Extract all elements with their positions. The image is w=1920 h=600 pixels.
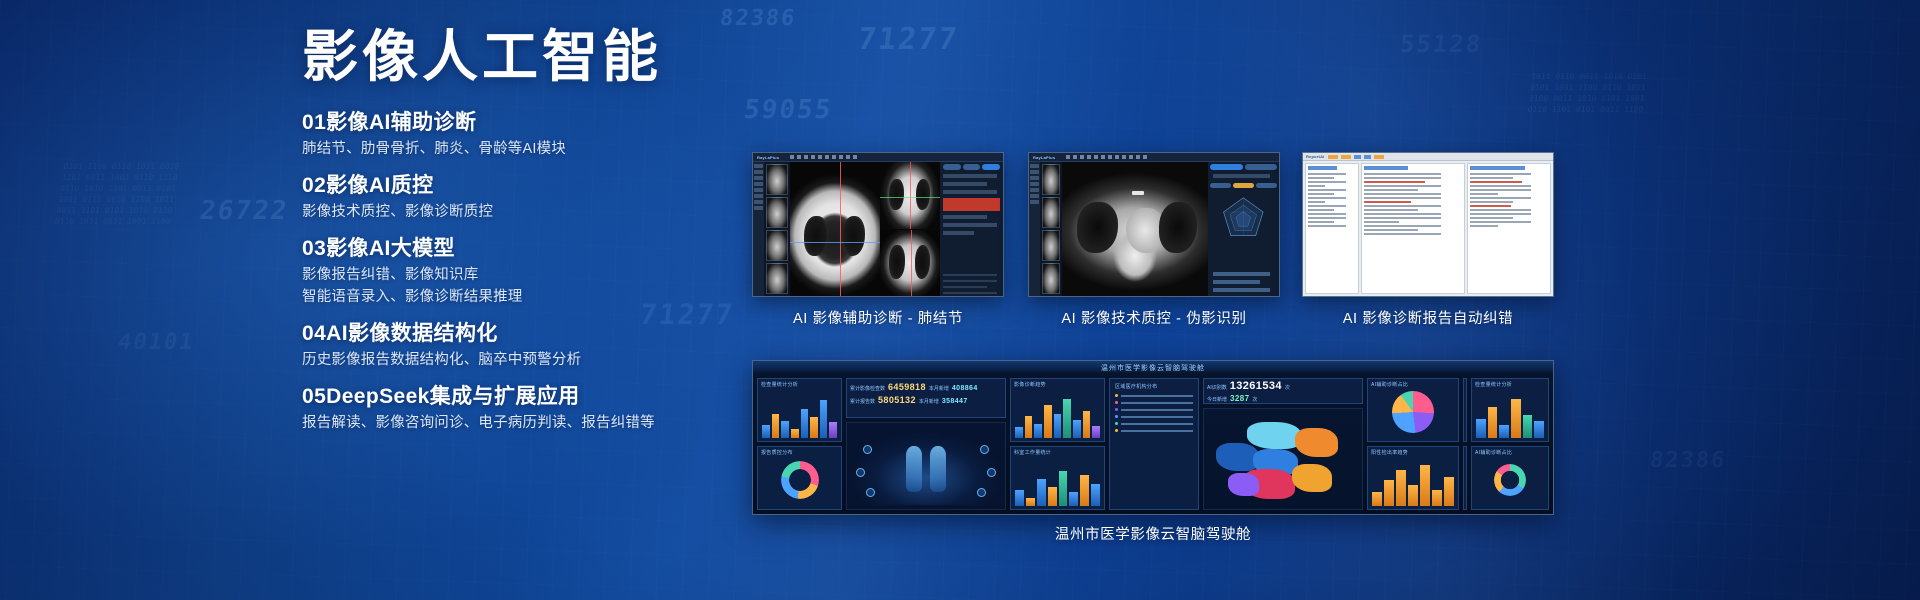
bar [1037,479,1046,506]
rail-icon-1[interactable] [1030,164,1039,168]
stat-value: 408864 [952,385,978,392]
report-line [1364,205,1441,207]
rail-icon-8[interactable] [754,206,763,210]
rail-icon-5[interactable] [754,188,763,192]
coronal-lung-left [889,179,903,210]
toolbar-icons[interactable] [1066,155,1147,159]
legend-dot-icon [1115,415,1118,418]
stat-row-1: 累计影像检查数 6459818 本月新增 408864 [850,382,1002,392]
rail-icon-6[interactable] [1030,194,1039,198]
tool-icon-9[interactable] [1122,155,1126,159]
screenshot-ct-artifact[interactable]: RayLaPlus [1028,152,1280,297]
ct-secondary-viewports[interactable] [880,162,940,296]
report-line [1364,197,1441,199]
panel-title: 影像诊断趋势 [1014,381,1046,388]
tab-nodules[interactable] [963,164,981,170]
tool-icon-12[interactable] [1143,155,1147,159]
panel-title: 报告质控分布 [761,449,793,456]
panel-title: 检查量统计分析 [761,381,798,388]
ct-nodule-app: RayLaPlus [753,153,1003,296]
worklist-row[interactable] [1308,205,1346,207]
report-line [1364,225,1441,227]
rail-icon-7[interactable] [754,200,763,204]
qc-result-row[interactable] [1213,288,1270,292]
series-thumbnail[interactable] [1042,164,1060,195]
feature-title-03: 03影像AI大模型 [302,235,722,263]
worklist-row[interactable] [1308,209,1334,211]
dashboard-column-1: 检查量统计分析 报告质控分布 [757,378,842,510]
tool-icon-3[interactable] [804,155,808,159]
bar [1384,480,1394,506]
stat-value: 13261534 [1230,380,1282,392]
bar [1063,399,1071,438]
suggestion-row[interactable] [1470,201,1513,203]
bar-chart [1476,391,1544,438]
panel-region-map[interactable] [1203,408,1363,510]
screenshot-report-fix[interactable]: ReportAI [1302,152,1554,297]
ai-findings-panel[interactable] [940,162,1003,296]
panel-positive-rate-trend[interactable]: 阳性检出率趋势 [1367,446,1459,510]
bar [829,422,837,438]
feature-desc-02-line-1: 影像技术质控、影像诊断质控 [302,202,722,224]
qc-tab-row[interactable] [1210,164,1277,170]
report-text-line [943,280,997,282]
rail-icon-4[interactable] [1030,182,1039,186]
report-text-line [943,286,987,288]
tool-icon-9[interactable] [846,155,850,159]
feature-list: 影像人工智能 01影像AI辅助诊断 肺结节、肋骨骨折、肺炎、骨龄等AI模块 02… [302,26,722,446]
feature-desc-01: 肺结节、肋骨骨折、肺炎、骨龄等AI模块 [302,139,722,161]
feature-desc-03: 影像报告纠错、影像知识库 智能语音录入、影像诊断结果推理 [302,265,722,309]
crosshair-vertical [840,162,841,296]
toolbar-button-export[interactable] [1374,155,1384,159]
bar [1396,470,1406,506]
panel-header: 检查量统计分析 [758,379,841,390]
qc-filter-pass[interactable] [1233,183,1254,188]
tool-icon-1[interactable] [1066,155,1070,159]
panel-title: 检查量统计分析 [1475,381,1512,388]
bar [1408,485,1418,506]
bar [1015,427,1023,438]
worklist-row[interactable] [1308,221,1334,223]
ai-stat-row-today: 今日新增 3287 次 [1207,394,1359,403]
tool-icon-4[interactable] [811,155,815,159]
suggestion-row-error[interactable] [1470,205,1510,207]
tool-icon-3[interactable] [1080,155,1084,159]
tool-icon-7[interactable] [1108,155,1112,159]
pie-chart [1392,391,1434,433]
ct-artifact-app: RayLaPlus [1029,153,1279,296]
bar [801,409,809,438]
left-tool-rail[interactable] [753,162,764,296]
feature-title-02: 02影像AI质控 [302,172,722,200]
bar [1044,405,1052,438]
feature-title-01: 01影像AI辅助诊断 [302,109,722,137]
panel-exam-volume[interactable]: 检查量统计分析 [757,378,842,442]
toolbar-icons[interactable] [790,155,857,159]
series-thumbnail-list[interactable] [764,162,790,296]
map-region-north[interactable] [1247,422,1302,448]
bar [1534,421,1544,438]
worklist-row[interactable] [1308,201,1325,203]
legend-dot-icon [1115,429,1118,432]
bar [1476,419,1486,438]
stat-row-2: 累计报告数 5805132 本月新增 358447 [850,395,1002,405]
dashboard-title: 温州市医学影像云智脑驾驶舱 [753,361,1553,374]
toolbar-button-open[interactable] [1328,155,1338,159]
bar [1372,492,1382,506]
crosshair-horizontal [880,197,940,198]
panel-ai-ratio[interactable]: AI辅助诊断占比 [1367,378,1459,442]
caption-ct-artifact: AI 影像技术质控 - 伪影识别 [1028,307,1280,328]
stat-value: 5805132 [878,395,916,405]
panel-title: 阳性检出率趋势 [1371,449,1408,456]
ct-artifact-toolbar[interactable]: RayLaPlus [1029,153,1279,162]
series-thumbnail[interactable] [766,197,788,228]
lung-right-region [1159,202,1197,253]
list-item[interactable] [1115,415,1193,418]
tab-report[interactable] [982,164,1000,170]
donut-chart [1494,464,1526,496]
suggestion-row-error[interactable] [1470,181,1521,183]
rail-icon-5[interactable] [1030,188,1039,192]
ct-axial-viewport[interactable] [790,162,880,296]
crosshair-vertical [911,230,912,297]
worklist-row[interactable] [1308,185,1325,187]
finding-row[interactable] [943,182,987,186]
dashboard-column-2: 累计影像检查数 6459818 本月新增 408864 累计报告数 580513… [846,378,1006,510]
ct-artifact-viewport[interactable] [1062,162,1208,296]
tool-icon-10[interactable] [1129,155,1133,159]
app-logo-icon: ReportAI [1306,154,1325,159]
region-map[interactable] [1207,419,1359,506]
qc-radar-chart [1212,195,1275,241]
qc-filter-row[interactable] [1210,183,1277,188]
finding-row-alert[interactable] [943,198,1000,211]
worklist-row[interactable] [1308,197,1346,199]
bar-chart [1372,459,1454,506]
bar [1444,477,1454,506]
caption-dashboard: 温州市医学影像云智脑驾驶舱 [752,523,1554,544]
bar [1034,424,1042,438]
suggestion-row[interactable] [1470,193,1497,195]
tool-icon-7[interactable] [832,155,836,159]
report-line [1364,217,1441,219]
map-region-coastal[interactable] [1228,473,1258,496]
panel-department-workload[interactable]: 科室工作量统计 [1010,446,1105,510]
series-thumbnail[interactable] [766,263,788,294]
bar [1420,465,1430,506]
list-item[interactable] [1115,394,1193,397]
map-region-southeast[interactable] [1292,464,1332,492]
suggestion-row[interactable] [1470,217,1513,219]
crosshair-vertical [910,162,911,229]
report-line-error[interactable] [1364,201,1411,203]
panel-cumulative-stats[interactable]: 累计影像检查数 6459818 本月新增 408864 累计报告数 580513… [846,378,1006,418]
report-line [1364,173,1441,175]
report-line [1364,185,1441,187]
series-thumbnail-list[interactable] [1040,162,1062,296]
crosshair-horizontal [790,242,880,243]
background-number-1: 71277 [856,22,961,57]
background-code-texture-right: 1011 0110 0011 1010 0101 0101 1001 1100 … [1527,60,1648,115]
bar [1026,498,1035,506]
tool-icon-10[interactable] [853,155,857,159]
report-text-line [943,274,997,276]
organ-icon-bone[interactable] [987,468,996,477]
stat-label: 累计报告数 [850,398,875,405]
finding-row[interactable] [943,190,997,194]
tool-icon-5[interactable] [1094,155,1098,159]
report-line [1364,229,1418,231]
tool-icon-2[interactable] [1073,155,1077,159]
stat-value: 3287 [1230,394,1249,403]
panel-ai-count[interactable]: AI识别数 13261534 次 今日新增 3287 次 [1203,378,1363,404]
feature-item-01: 01影像AI辅助诊断 肺结节、肋骨骨折、肺炎、骨龄等AI模块 [302,109,722,161]
worklist-row[interactable] [1308,217,1346,219]
series-thumbnail[interactable] [1042,230,1060,261]
tool-icon-1[interactable] [790,155,794,159]
tool-icon-2[interactable] [797,155,801,159]
series-thumbnail[interactable] [766,164,788,195]
panel-human-body-visual[interactable] [846,422,1006,510]
map-region-east[interactable] [1295,428,1338,458]
rail-icon-7[interactable] [1030,200,1039,204]
rail-icon-2[interactable] [1030,170,1039,174]
tool-icon-6[interactable] [1101,155,1105,159]
background-number-5: 55128 [1399,30,1484,58]
report-fix-app: ReportAI [1303,153,1553,296]
feature-desc-03-line-1: 影像报告纠错、影像知识库 [302,265,722,287]
tool-icon-4[interactable] [1087,155,1091,159]
correction-suggestion-panel[interactable] [1467,163,1551,294]
list-item[interactable] [1115,422,1193,425]
report-line [1364,193,1441,195]
feature-item-02: 02影像AI质控 影像技术质控、影像诊断质控 [302,172,722,224]
suggestion-row[interactable] [1470,213,1531,215]
feature-desc-01-line-1: 肺结节、肋骨骨折、肺炎、骨龄等AI模块 [302,139,722,161]
rail-icon-2[interactable] [754,170,763,174]
panel-title: 科室工作量统计 [1014,449,1051,456]
suggestion-row[interactable] [1470,173,1531,175]
ct-sagittal-viewport[interactable] [880,230,940,297]
rail-icon-1[interactable] [754,164,763,168]
bar [762,425,770,438]
report-line [1364,233,1441,235]
feature-desc-05: 报告解读、影像咨询问诊、电子病历判读、报告纠错等 [302,413,722,435]
legend-dot-icon [1115,394,1118,397]
legend-dot-icon [1115,408,1118,411]
background-number-2: 59055 [742,95,834,125]
suggestion-row[interactable] [1470,189,1531,191]
suggestion-row[interactable] [1470,185,1531,187]
report-editor-panel[interactable] [1361,163,1465,294]
worklist-row[interactable] [1308,189,1346,191]
panel-header: 设备运行监测 [1464,379,1467,390]
bar [1080,475,1089,506]
rail-icon-4[interactable] [754,182,763,186]
panel-title: 区域医疗机构分布 [1115,383,1157,390]
bar-chart [1015,391,1100,438]
finding-row[interactable] [943,231,975,235]
body-silhouette-icon [906,446,922,492]
qc-filter-all[interactable] [1210,183,1231,188]
worklist-row[interactable] [1308,181,1346,183]
tab-overview[interactable] [943,164,961,170]
background-number-3: 26722 [198,196,291,226]
left-tool-rail[interactable] [1029,162,1040,296]
series-thumbnail[interactable] [1042,197,1060,228]
suggestion-row[interactable] [1470,177,1513,179]
sagittal-lung-left [889,245,905,278]
qc-score-panel[interactable] [1208,162,1279,296]
panel-header: 影像诊断趋势 [1464,447,1467,458]
panel-diagnosis-trend[interactable]: 影像诊断趋势 [1010,378,1105,442]
panel-header: 检查量统计分析 [1472,379,1548,390]
panel-institution-list[interactable]: 区域医疗机构分布 [1109,378,1199,510]
qc-section-title [1213,174,1270,178]
caption-report-fix: AI 影像诊断报告自动纠错 [1302,307,1554,328]
institution-rows[interactable] [1112,392,1196,434]
worklist-row[interactable] [1308,173,1346,175]
banner-root: 82386 71277 59055 26722 71277 55128 4010… [0,0,1920,600]
dashboard-app: 温州市医学影像云智脑驾驶舱 检查量统计分析 [753,361,1553,514]
panel-header: AI辅助诊断占比 [1368,379,1458,390]
panel-secondary-trend[interactable]: 影像诊断趋势 [1463,446,1467,510]
panel-ai-module-ratio[interactable]: AI辅助诊断占比 [1471,446,1549,510]
feature-item-03: 03影像AI大模型 影像报告纠错、影像知识库 智能语音录入、影像诊断结果推理 [302,235,722,309]
panel-header: 影像诊断趋势 [1011,379,1104,390]
panel-equipment-monitor[interactable]: 设备运行监测 [1463,378,1467,442]
panel-header: 阳性检出率趋势 [1368,447,1458,458]
bar [1069,492,1078,506]
worklist-panel[interactable] [1305,163,1359,294]
bar [820,400,828,438]
finding-row[interactable] [943,174,997,178]
bar-chart [1015,459,1100,506]
series-thumbnail[interactable] [1042,263,1060,294]
report-title [1364,166,1408,170]
rail-icon-3[interactable] [754,176,763,180]
toolbar-button-save[interactable] [1341,155,1351,159]
ai-stat-row: AI识别数 13261534 次 [1207,380,1359,392]
qc-result-row[interactable] [1213,272,1270,276]
app-logo-icon: RayLaPlus [1033,155,1055,160]
feature-item-05: 05DeepSeek集成与扩展应用 报告解读、影像咨询问诊、电子病历判读、报告纠… [302,383,722,435]
worklist-header [1308,166,1337,170]
stat-label: 累计影像检查数 [850,385,885,392]
donut-chart [781,461,819,499]
qc-result-row[interactable] [1213,280,1260,284]
list-item[interactable] [1115,401,1193,404]
dashboard-column-5: AI识别数 13261534 次 今日新增 3287 次 [1203,378,1363,510]
suggestion-row[interactable] [1470,197,1531,199]
bar [1083,411,1091,438]
tool-icon-6[interactable] [825,155,829,159]
report-line [1364,221,1398,223]
bar-chart [762,391,837,438]
bar [791,429,799,438]
suggestion-row[interactable] [1470,221,1531,223]
stat-value: 6459818 [888,382,926,392]
report-line [1364,209,1418,211]
bar [1523,415,1533,439]
report-line [1364,213,1441,215]
feature-desc-03-line-2: 智能语音录入、影像诊断结果推理 [302,287,722,309]
screenshot-dashboard[interactable]: 温州市医学影像云智脑驾驶舱 检查量统计分析 [752,360,1554,515]
tool-icon-8[interactable] [1115,155,1119,159]
ct-coronal-viewport[interactable] [880,162,940,229]
worklist-row[interactable] [1308,213,1346,215]
panel-report-quality-distribution[interactable]: 报告质控分布 [757,446,842,510]
qc-tab-manual[interactable] [1245,164,1277,170]
finding-row[interactable] [943,223,997,227]
report-toolbar[interactable]: ReportAI [1303,153,1553,161]
feature-title-05: 05DeepSeek集成与扩展应用 [302,383,722,411]
caption-ct-nodule: AI 影像辅助诊断 - 肺结节 [752,307,1004,328]
report-line [1364,189,1418,191]
worklist-row[interactable] [1308,177,1334,179]
tool-icon-5[interactable] [818,155,822,159]
dashboard-column-6: AI辅助诊断占比 阳性检出率趋势 [1367,378,1459,510]
qc-tab-auto[interactable] [1210,164,1242,170]
panel-modality-volume[interactable]: 检查量统计分析 [1471,378,1549,442]
radar-chart-svg [1212,195,1275,241]
series-thumbnail[interactable] [766,230,788,261]
list-item[interactable] [1115,429,1193,432]
suggestion-row[interactable] [1470,225,1497,227]
report-line-error[interactable] [1364,181,1425,183]
artifact-marker-icon [1132,191,1144,195]
rail-icon-3[interactable] [1030,176,1039,180]
finding-row[interactable] [943,215,987,219]
dashboard-column-8: 检查量统计分析 AI辅助诊断占比 [1471,378,1549,510]
worklist-row[interactable] [1308,225,1346,227]
findings-tab-row[interactable] [940,164,1003,172]
qc-filter-fail[interactable] [1256,183,1277,188]
dashboard-grid: 检查量统计分析 报告质控分布 [753,374,1553,514]
tool-icon-8[interactable] [839,155,843,159]
lung-left-region [804,216,827,256]
feature-desc-05-line-1: 报告解读、影像咨询问诊、电子病历判读、报告纠错等 [302,413,722,435]
suggestion-row[interactable] [1470,209,1531,211]
dashboard-column-7: 设备运行监测 影像诊断趋势 [1463,378,1467,510]
bar [1432,490,1442,506]
toolbar-button-print[interactable] [1364,155,1371,159]
screenshot-ct-nodule[interactable]: RayLaPlus [752,152,1004,297]
bar [1059,471,1068,506]
body-silhouette-icon [930,446,946,492]
toolbar-button-check[interactable] [1354,155,1361,159]
stat-label: 今日新增 [1207,396,1227,403]
panel-header: 区域医疗机构分布 [1112,381,1196,392]
bar [1073,420,1081,438]
app-logo-icon: RayLaPlus [757,155,779,160]
bar [1499,425,1509,438]
background-code-texture-left: 0101 1100 0110 1011 0010 1101 0011 1001 … [54,150,182,227]
list-item[interactable] [1115,408,1193,411]
panel-header: AI辅助诊断占比 [1472,447,1548,458]
legend-dot-icon [1115,422,1118,425]
tool-icon-11[interactable] [1136,155,1140,159]
bar [1511,399,1521,438]
worklist-row[interactable] [1308,193,1334,195]
ct-nodule-toolbar[interactable]: RayLaPlus [753,153,1003,162]
dashboard-column-3: 影像诊断趋势 科室工作量统计 [1010,378,1105,510]
bar [1488,407,1498,438]
rail-icon-6[interactable] [754,194,763,198]
panel-title: AI辅助诊断占比 [1475,449,1512,456]
